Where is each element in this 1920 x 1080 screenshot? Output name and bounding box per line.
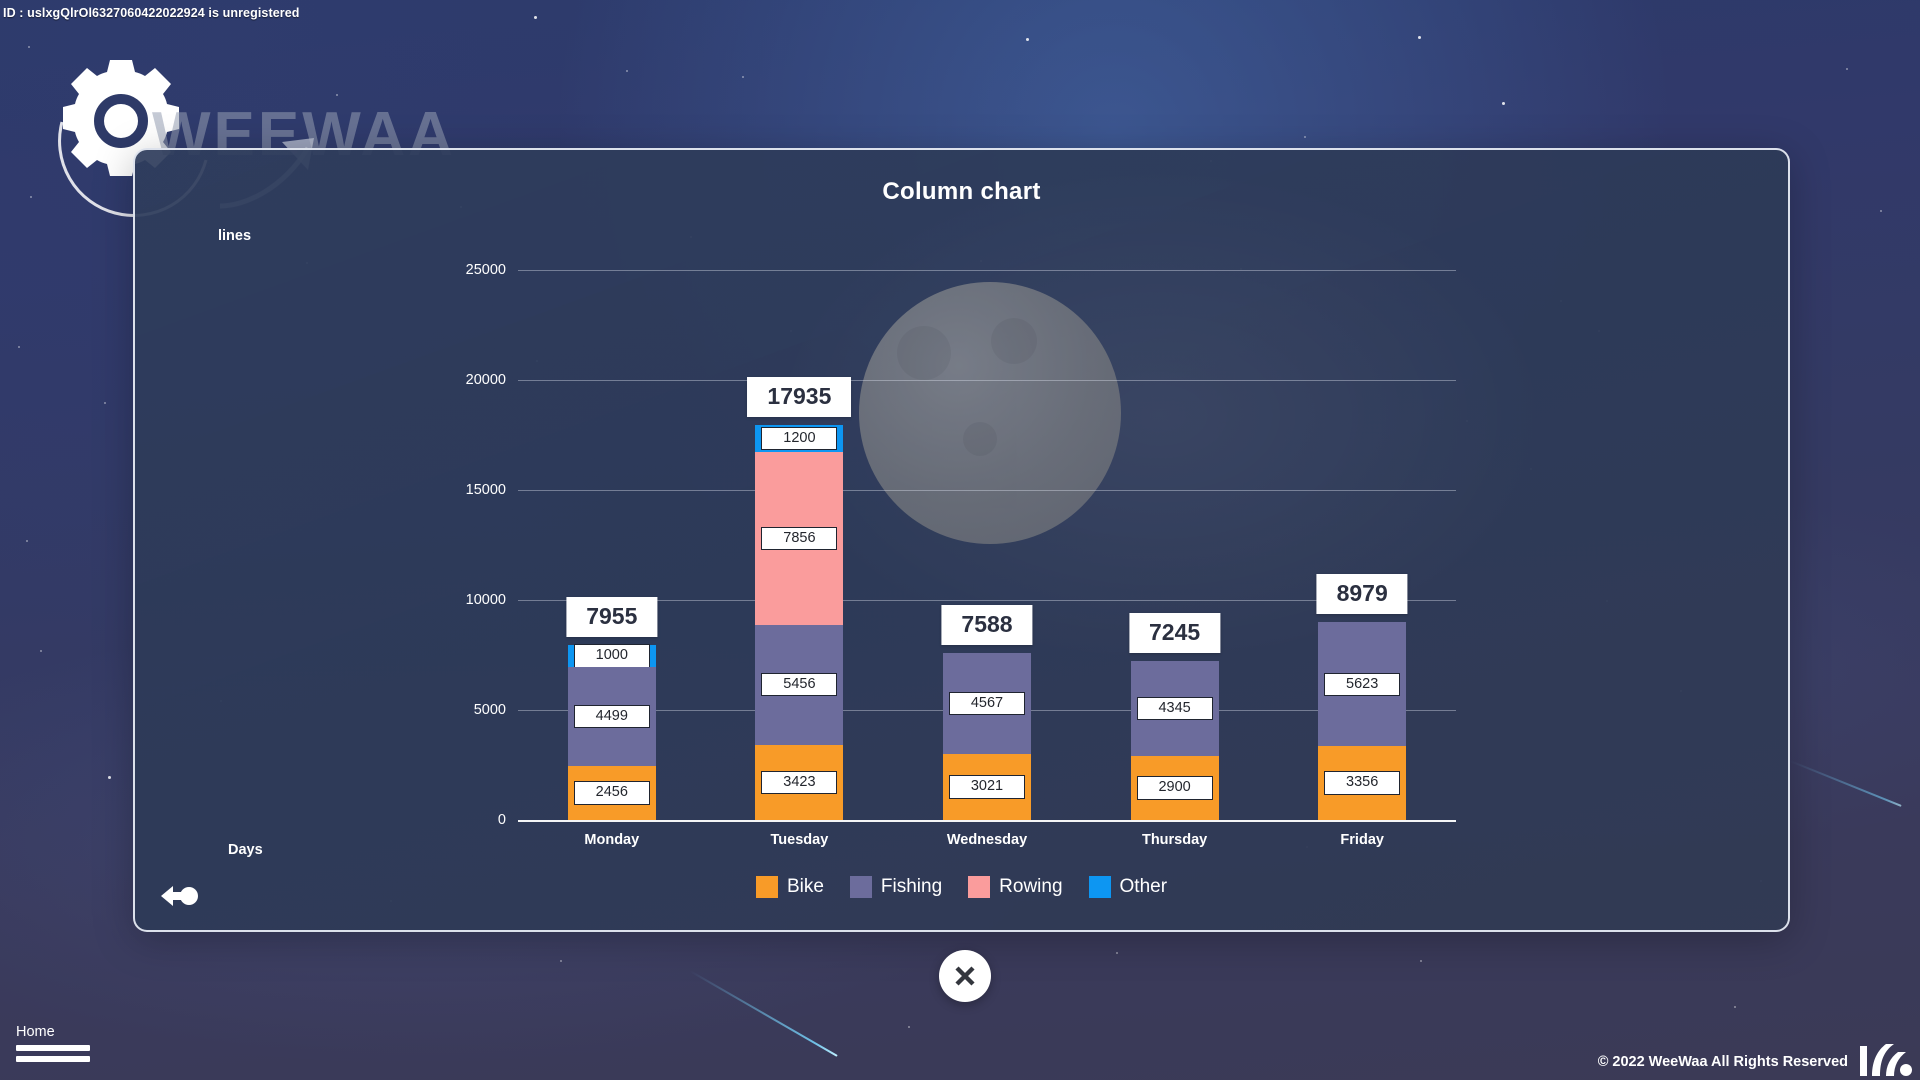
home-nav-button[interactable]: Home <box>16 1024 90 1062</box>
axis-zero-line <box>518 820 1456 822</box>
x-axis-tick-label: Tuesday <box>771 832 829 848</box>
gridline <box>518 600 1456 601</box>
bar-segment-fishing[interactable]: 5623 <box>1318 622 1406 746</box>
gridline <box>518 270 1456 271</box>
app-background: ID : uslxgQlrOl6327060422022924 is unreg… <box>0 0 1920 1080</box>
bar-segment-value-label: 2900 <box>1137 776 1213 800</box>
y-axis-tick-label: 5000 <box>474 702 506 718</box>
y-axis-title: lines <box>218 228 251 244</box>
legend-item-bike[interactable]: Bike <box>756 876 824 898</box>
legend-label: Fishing <box>881 876 942 898</box>
chart-title: Column chart <box>135 178 1788 206</box>
comet-streak <box>690 970 838 1057</box>
gridline <box>518 490 1456 491</box>
x-axis-tick-label: Monday <box>584 832 639 848</box>
bar-segment-value-label: 7856 <box>761 527 837 551</box>
bar-segment-other[interactable]: 1000 <box>568 645 656 667</box>
x-axis-title: Days <box>228 842 263 858</box>
legend-item-other[interactable]: Other <box>1089 876 1168 898</box>
star <box>1418 36 1421 39</box>
star <box>1846 68 1848 70</box>
legend-swatch <box>850 876 872 898</box>
bar-segment-value-label: 4499 <box>574 705 650 729</box>
home-bar <box>16 1045 90 1051</box>
bar-column[interactable]: 562333568979 <box>1318 622 1406 820</box>
legend-item-rowing[interactable]: Rowing <box>968 876 1062 898</box>
legend-label: Bike <box>787 876 824 898</box>
unregistered-id-watermark: ID : uslxgQlrOl6327060422022924 is unreg… <box>3 6 300 20</box>
bar-column[interactable]: 1000449924567955 <box>568 645 656 820</box>
home-bar <box>16 1056 90 1062</box>
gridline <box>518 380 1456 381</box>
bar-segment-fishing[interactable]: 4567 <box>943 653 1031 753</box>
legend-swatch <box>1089 876 1111 898</box>
legend-item-fishing[interactable]: Fishing <box>850 876 942 898</box>
legend-label: Rowing <box>999 876 1062 898</box>
signal-icon <box>1856 1042 1914 1078</box>
bar-total-label: 17935 <box>747 377 851 417</box>
star <box>40 650 42 652</box>
y-axis-tick-label: 10000 <box>466 592 506 608</box>
star <box>560 960 562 962</box>
legend-swatch <box>968 876 990 898</box>
plot-area: lines Days 0500010000150002000025000Mond… <box>518 270 1456 820</box>
star <box>1420 960 1422 962</box>
star <box>626 70 628 72</box>
bar-segment-bike[interactable]: 3021 <box>943 754 1031 820</box>
star <box>28 46 30 48</box>
chart-legend: BikeFishingRowingOther <box>135 876 1788 898</box>
star <box>104 402 106 404</box>
close-icon <box>950 961 980 991</box>
comet-streak <box>1790 760 1902 807</box>
y-axis-tick-label: 25000 <box>466 262 506 278</box>
bar-segment-value-label: 3356 <box>1324 771 1400 795</box>
y-axis-tick-label: 20000 <box>466 372 506 388</box>
star <box>26 540 28 542</box>
bar-segment-value-label: 5456 <box>761 673 837 697</box>
bar-column[interactable]: 434529007245 <box>1131 661 1219 820</box>
star <box>1880 210 1882 212</box>
legend-label: Other <box>1120 876 1168 898</box>
bar-segment-bike[interactable]: 3356 <box>1318 746 1406 820</box>
bar-segment-value-label: 1000 <box>574 644 650 668</box>
close-dialog-button[interactable] <box>939 950 991 1002</box>
bar-column[interactable]: 456730217588 <box>943 653 1031 820</box>
bar-segment-value-label: 4567 <box>949 692 1025 716</box>
bar-segment-value-label: 1200 <box>761 427 837 451</box>
star <box>742 76 744 78</box>
back-arrow-icon[interactable] <box>157 880 203 912</box>
bar-segment-fishing[interactable]: 4499 <box>568 667 656 766</box>
home-label: Home <box>16 1024 90 1040</box>
bar-column[interactable]: 120078565456342317935 <box>755 425 843 820</box>
copyright-text: © 2022 WeeWaa All Rights Reserved <box>1598 1054 1848 1070</box>
y-axis-tick-label: 15000 <box>466 482 506 498</box>
bar-segment-bike[interactable]: 2456 <box>568 766 656 820</box>
bar-segment-value-label: 3423 <box>761 771 837 795</box>
star <box>908 1026 910 1028</box>
x-axis-tick-label: Wednesday <box>947 832 1027 848</box>
bar-segment-rowing[interactable]: 7856 <box>755 452 843 625</box>
star <box>108 776 111 779</box>
bar-total-label: 7588 <box>941 605 1032 645</box>
bar-segment-value-label: 4345 <box>1137 697 1213 721</box>
star <box>1026 38 1029 41</box>
bar-segment-bike[interactable]: 3423 <box>755 745 843 820</box>
bar-segment-other[interactable]: 1200 <box>755 425 843 451</box>
star <box>534 16 537 19</box>
bar-total-label: 7245 <box>1129 613 1220 653</box>
bar-segment-fishing[interactable]: 5456 <box>755 625 843 745</box>
bar-segment-value-label: 5623 <box>1324 673 1400 697</box>
bar-segment-bike[interactable]: 2900 <box>1131 756 1219 820</box>
bar-segment-fishing[interactable]: 4345 <box>1131 661 1219 757</box>
star <box>18 346 20 348</box>
star <box>30 196 32 198</box>
bar-total-label: 7955 <box>566 597 657 637</box>
star <box>1502 102 1505 105</box>
star <box>1116 952 1118 954</box>
star <box>1304 136 1306 138</box>
x-axis-tick-label: Friday <box>1340 832 1384 848</box>
x-axis-tick-label: Thursday <box>1142 832 1207 848</box>
chart-dialog-panel: Column chart lines Days 0500010000150002… <box>133 148 1790 932</box>
bar-segment-value-label: 3021 <box>949 775 1025 799</box>
bar-total-label: 8979 <box>1317 574 1408 614</box>
legend-swatch <box>756 876 778 898</box>
y-axis-tick-label: 0 <box>498 812 506 828</box>
star <box>1734 1006 1736 1008</box>
bar-segment-value-label: 2456 <box>574 781 650 805</box>
